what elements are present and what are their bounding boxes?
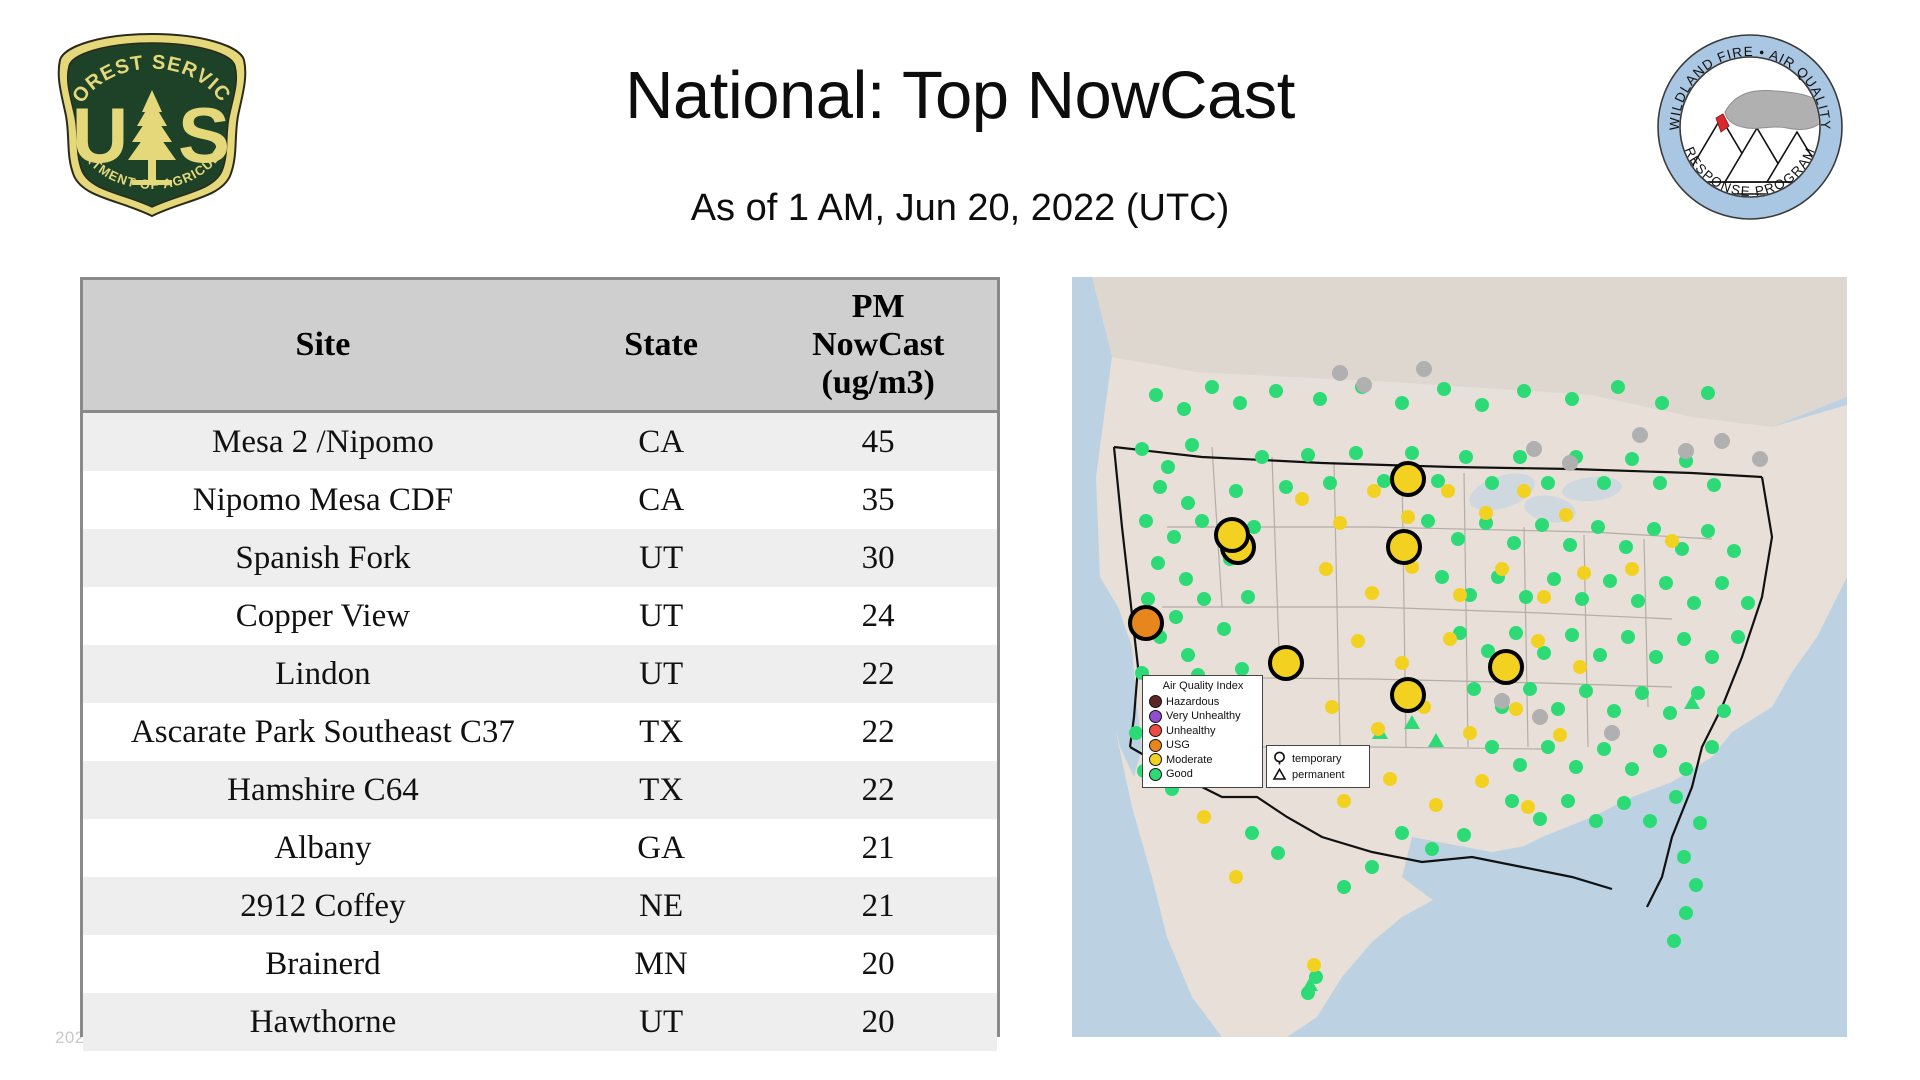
cell-site: Mesa 2 /Nipomo bbox=[83, 412, 563, 472]
aqi-swatch-icon bbox=[1149, 753, 1162, 766]
table-header-row: Site State PM NowCast (ug/m3) bbox=[83, 280, 997, 412]
aqi-legend-row: Hazardous bbox=[1149, 695, 1257, 708]
table-row: Ascarate Park Southeast C37TX22 bbox=[83, 703, 997, 761]
cell-pm-nowcast: 21 bbox=[759, 819, 997, 877]
aqi-legend-label: USG bbox=[1166, 739, 1190, 751]
table-body: Mesa 2 /NipomoCA45Nipomo Mesa CDFCA35Spa… bbox=[83, 412, 997, 1052]
cell-pm-nowcast: 22 bbox=[759, 761, 997, 819]
table-row: Nipomo Mesa CDFCA35 bbox=[83, 471, 997, 529]
aqi-legend-row: Good bbox=[1149, 768, 1257, 781]
legend-permanent: permanent bbox=[1272, 767, 1364, 782]
cell-pm-nowcast: 20 bbox=[759, 935, 997, 993]
pm-line-2: NowCast bbox=[761, 326, 995, 364]
circle-icon bbox=[1272, 751, 1287, 766]
pm-line-3: (ug/m3) bbox=[761, 364, 995, 402]
marker-usg bbox=[1130, 607, 1162, 639]
table: Site State PM NowCast (ug/m3) Mesa 2 /Ni… bbox=[83, 280, 997, 1051]
table-row: Hamshire C64TX22 bbox=[83, 761, 997, 819]
cell-pm-nowcast: 45 bbox=[759, 412, 997, 472]
cell-pm-nowcast: 24 bbox=[759, 587, 997, 645]
aqi-legend-label: Hazardous bbox=[1166, 696, 1219, 708]
us-air-quality-map[interactable]: Air Quality Index HazardousVery Unhealth… bbox=[1072, 277, 1847, 1037]
monitor-type-legend: temporary permanent bbox=[1266, 745, 1370, 788]
cell-state: UT bbox=[563, 993, 760, 1051]
column-header-site: Site bbox=[83, 280, 563, 412]
table-row: HawthorneUT20 bbox=[83, 993, 997, 1051]
cell-pm-nowcast: 30 bbox=[759, 529, 997, 587]
table-row: 2912 CoffeyNE21 bbox=[83, 877, 997, 935]
aqi-legend-label: Very Unhealthy bbox=[1166, 710, 1241, 722]
cell-state: UT bbox=[563, 529, 760, 587]
cell-site: Hamshire C64 bbox=[83, 761, 563, 819]
cell-site: Albany bbox=[83, 819, 563, 877]
cell-state: UT bbox=[563, 645, 760, 703]
aqi-swatch-icon bbox=[1149, 695, 1162, 708]
legend-temporary-label: temporary bbox=[1292, 753, 1342, 765]
column-header-pm-nowcast: PM NowCast (ug/m3) bbox=[759, 280, 997, 412]
map-top-site-markers bbox=[1072, 277, 1847, 1037]
column-header-state: State bbox=[563, 280, 760, 412]
cell-state: TX bbox=[563, 761, 760, 819]
cell-state: NE bbox=[563, 877, 760, 935]
cell-site: 2912 Coffey bbox=[83, 877, 563, 935]
cell-state: GA bbox=[563, 819, 760, 877]
table-row: BrainerdMN20 bbox=[83, 935, 997, 993]
top-nowcast-table: Site State PM NowCast (ug/m3) Mesa 2 /Ni… bbox=[80, 277, 1000, 1037]
aqi-legend-label: Unhealthy bbox=[1166, 725, 1216, 737]
page-title: National: Top NowCast bbox=[300, 56, 1620, 136]
aqi-swatch-icon bbox=[1149, 710, 1162, 723]
cell-site: Lindon bbox=[83, 645, 563, 703]
cell-site: Nipomo Mesa CDF bbox=[83, 471, 563, 529]
aqi-legend-title: Air Quality Index bbox=[1149, 680, 1257, 692]
table-row: LindonUT22 bbox=[83, 645, 997, 703]
cell-pm-nowcast: 21 bbox=[759, 877, 997, 935]
cell-pm-nowcast: 22 bbox=[759, 645, 997, 703]
cell-site: Brainerd bbox=[83, 935, 563, 993]
cell-pm-nowcast: 22 bbox=[759, 703, 997, 761]
aqi-legend-label: Moderate bbox=[1166, 754, 1212, 766]
cell-state: CA bbox=[563, 412, 760, 472]
cell-site: Ascarate Park Southeast C37 bbox=[83, 703, 563, 761]
aqi-legend: Air Quality Index HazardousVery Unhealth… bbox=[1142, 675, 1263, 788]
aqi-legend-row: Moderate bbox=[1149, 753, 1257, 766]
legend-permanent-label: permanent bbox=[1292, 769, 1345, 781]
table-row: Spanish ForkUT30 bbox=[83, 529, 997, 587]
aqi-swatch-icon bbox=[1149, 724, 1162, 737]
cell-pm-nowcast: 20 bbox=[759, 993, 997, 1051]
aqi-swatch-icon bbox=[1149, 739, 1162, 752]
aqi-legend-row: Unhealthy bbox=[1149, 724, 1257, 737]
cell-pm-nowcast: 35 bbox=[759, 471, 997, 529]
aqi-swatch-icon bbox=[1149, 768, 1162, 781]
triangle-icon bbox=[1272, 767, 1287, 782]
cell-site: Copper View bbox=[83, 587, 563, 645]
cell-state: CA bbox=[563, 471, 760, 529]
cell-site: Hawthorne bbox=[83, 993, 563, 1051]
wildland-fire-air-quality-seal: WILDLAND FIRE • AIR QUALITY RESPONSE PRO… bbox=[1655, 32, 1845, 222]
cell-site: Spanish Fork bbox=[83, 529, 563, 587]
table-row: Copper ViewUT24 bbox=[83, 587, 997, 645]
cell-state: UT bbox=[563, 587, 760, 645]
page-subtitle: As of 1 AM, Jun 20, 2022 (UTC) bbox=[300, 185, 1620, 231]
table-row: AlbanyGA21 bbox=[83, 819, 997, 877]
legend-temporary: temporary bbox=[1272, 751, 1364, 766]
aqi-legend-label: Good bbox=[1166, 768, 1193, 780]
table-row: Mesa 2 /NipomoCA45 bbox=[83, 412, 997, 472]
cell-state: MN bbox=[563, 935, 760, 993]
aqi-legend-row: Very Unhealthy bbox=[1149, 710, 1257, 723]
pm-line-1: PM bbox=[761, 288, 995, 326]
cell-state: TX bbox=[563, 703, 760, 761]
forest-service-logo: FOREST SERVICE U S DEPARTMENT OF AGRICUL… bbox=[52, 30, 252, 220]
aqi-legend-row: USG bbox=[1149, 739, 1257, 752]
